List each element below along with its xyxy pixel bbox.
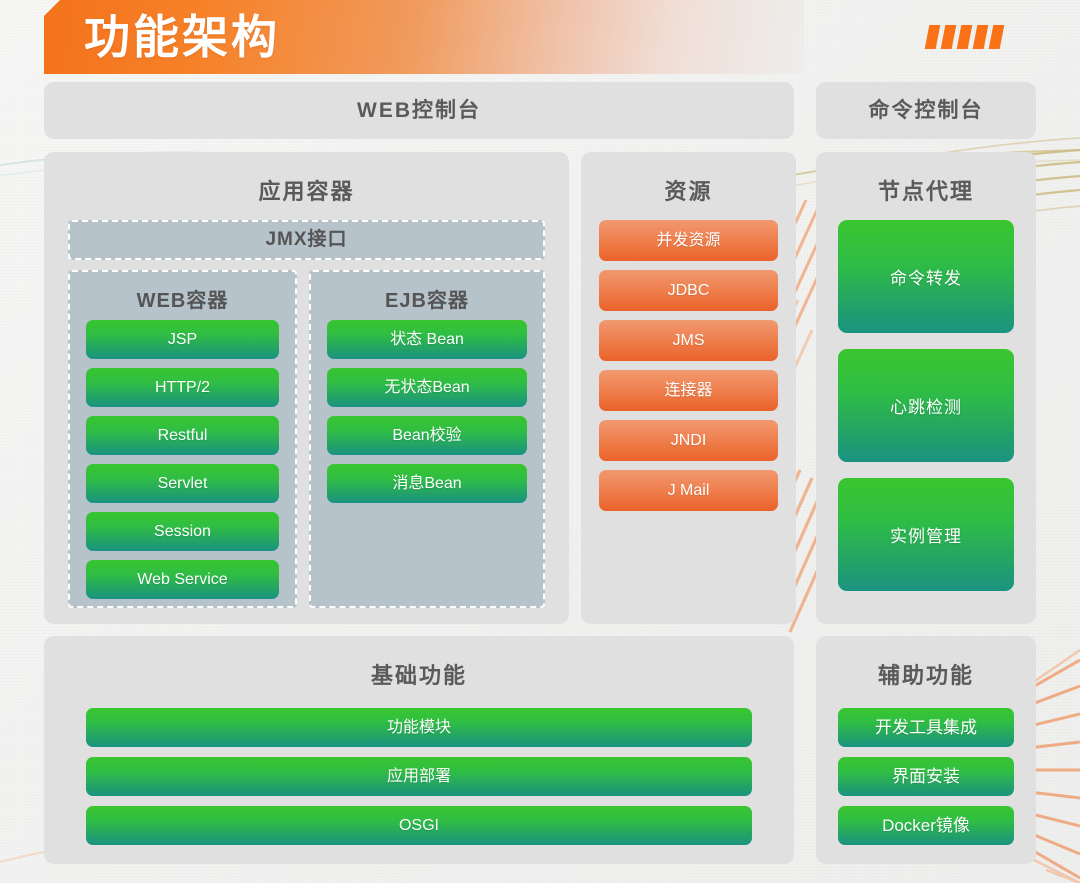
resources-items: 并发资源 JDBC JMS 连接器 JNDI J Mail — [599, 220, 778, 511]
panel-web-console[interactable]: WEB控制台 — [44, 82, 794, 139]
resources-title: 资源 — [581, 174, 796, 206]
jmx-interface-label: JMX接口 — [70, 222, 543, 258]
panel-base-functions: 基础功能 功能模块 应用部署 OSGI — [44, 636, 794, 864]
list-item[interactable]: 应用部署 — [86, 757, 752, 796]
panel-command-console[interactable]: 命令控制台 — [816, 82, 1036, 139]
list-item[interactable]: Servlet — [86, 464, 279, 503]
list-item[interactable]: 界面安装 — [838, 757, 1014, 796]
list-item[interactable]: JMS — [599, 320, 778, 361]
list-item[interactable]: 并发资源 — [599, 220, 778, 261]
command-console-title: 命令控制台 — [816, 82, 1036, 139]
panel-app-container: 应用容器 JMX接口 WEB容器 JSP HTTP/2 Restful Serv… — [44, 152, 569, 624]
list-item[interactable]: 开发工具集成 — [838, 708, 1014, 747]
list-item[interactable]: Bean校验 — [327, 416, 527, 455]
list-item[interactable]: Docker镜像 — [838, 806, 1014, 845]
list-item[interactable]: HTTP/2 — [86, 368, 279, 407]
list-item[interactable]: 实例管理 — [838, 478, 1014, 591]
decor-bars-icon — [927, 25, 1002, 49]
list-item[interactable]: Restful — [86, 416, 279, 455]
panel-node-agent: 节点代理 命令转发 心跳检测 实例管理 — [816, 152, 1036, 624]
list-item[interactable]: 功能模块 — [86, 708, 752, 747]
base-functions-items: 功能模块 应用部署 OSGI — [86, 708, 752, 845]
page-header: 功能架构 — [44, 0, 1044, 74]
web-console-title: WEB控制台 — [44, 82, 794, 139]
app-container-title: 应用容器 — [44, 174, 569, 206]
list-item[interactable]: 连接器 — [599, 370, 778, 411]
page-title: 功能架构 — [84, 7, 280, 67]
ejb-container-title: EJB容器 — [311, 284, 543, 313]
web-container-title: WEB容器 — [70, 284, 295, 313]
list-item[interactable]: OSGI — [86, 806, 752, 845]
web-container-box: WEB容器 JSP HTTP/2 Restful Servlet Session… — [68, 270, 297, 608]
base-functions-title: 基础功能 — [44, 658, 794, 690]
panel-resources: 资源 并发资源 JDBC JMS 连接器 JNDI J Mail — [581, 152, 796, 624]
ejb-container-box: EJB容器 状态 Bean 无状态Bean Bean校验 消息Bean — [309, 270, 545, 608]
list-item[interactable]: Session — [86, 512, 279, 551]
jmx-interface-box[interactable]: JMX接口 — [68, 220, 545, 260]
list-item[interactable]: JNDI — [599, 420, 778, 461]
list-item[interactable]: 命令转发 — [838, 220, 1014, 333]
list-item[interactable]: JDBC — [599, 270, 778, 311]
list-item[interactable]: J Mail — [599, 470, 778, 511]
list-item[interactable]: 心跳检测 — [838, 349, 1014, 462]
list-item[interactable]: 状态 Bean — [327, 320, 527, 359]
web-container-items: JSP HTTP/2 Restful Servlet Session Web S… — [86, 320, 279, 599]
list-item[interactable]: 消息Bean — [327, 464, 527, 503]
aux-functions-items: 开发工具集成 界面安装 Docker镜像 — [838, 708, 1014, 845]
list-item[interactable]: JSP — [86, 320, 279, 359]
panel-aux-functions: 辅助功能 开发工具集成 界面安装 Docker镜像 — [816, 636, 1036, 864]
ejb-container-items: 状态 Bean 无状态Bean Bean校验 消息Bean — [327, 320, 527, 503]
node-agent-title: 节点代理 — [816, 174, 1036, 206]
aux-functions-title: 辅助功能 — [816, 658, 1036, 690]
list-item[interactable]: 无状态Bean — [327, 368, 527, 407]
list-item[interactable]: Web Service — [86, 560, 279, 599]
node-agent-items: 命令转发 心跳检测 实例管理 — [838, 220, 1014, 591]
